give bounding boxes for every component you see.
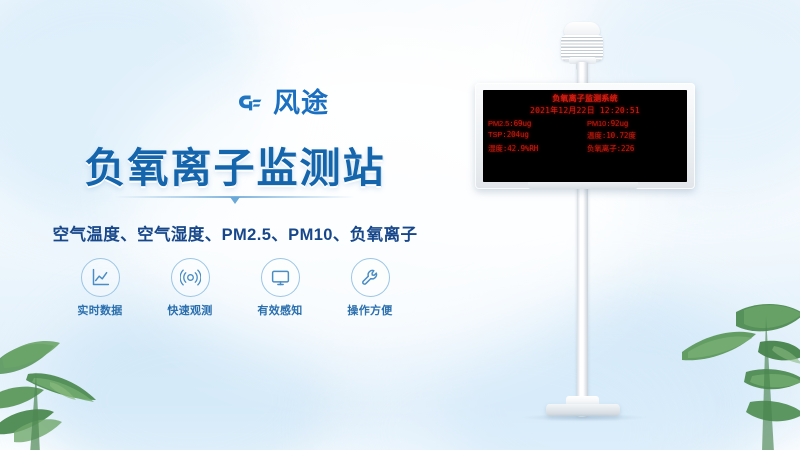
reading-humidity: 湿度:42.9%RH [488, 143, 583, 154]
reading-negative-oxygen-ion: 负氧离子:226 [587, 143, 682, 154]
feature-item-realtime-data: 实时数据 [68, 258, 132, 318]
reading-label: TSP [488, 130, 502, 139]
feature-label: 实时数据 [77, 302, 122, 318]
reading-label: PM10 [587, 119, 606, 128]
reading-label: 负氧离子 [587, 144, 617, 153]
sensor-dome [564, 22, 600, 36]
led-display-screen: 负氧离子监测系统 2021年12月22日 12:20:51 PM2.5:69ug… [483, 90, 687, 182]
page-subtitle: 空气温度、空气湿度、PM2.5、PM10、负氧离子 [0, 221, 470, 245]
headline-panel: 风途 负氧离子监测站 空气温度、空气湿度、PM2.5、PM10、负氧离子 实时数… [0, 0, 470, 450]
monitoring-station-device: 负氧离子监测系统 2021年12月22日 12:20:51 PM2.5:69ug… [430, 0, 800, 450]
feature-item-fast-observation: 快速观测 [158, 258, 222, 318]
reading-pm10: PM10:92ug [587, 119, 682, 128]
title-divider [115, 196, 355, 198]
reading-value: 42.9 [507, 144, 525, 153]
reading-label: 湿度 [488, 144, 503, 153]
brand-logo: 风途 [236, 88, 329, 118]
wrench-icon [351, 258, 390, 297]
feature-item-easy-operation: 操作方便 [338, 258, 402, 318]
monitor-icon [261, 258, 300, 297]
reading-pm25: PM2.5:69ug [488, 119, 583, 128]
line-chart-icon [81, 258, 120, 297]
fengtu-cloud-g-icon [236, 88, 266, 118]
radar-scan-icon [171, 258, 210, 297]
reading-unit: %RH [525, 144, 538, 153]
reading-value: 204 [507, 130, 520, 139]
reading-value: 10.72 [606, 131, 628, 140]
display-readings: PM2.5:69ug PM10:92ug TSP:204ug 温度:10.72度… [483, 119, 687, 154]
display-datetime: 2021年12月22日 12:20:51 [483, 105, 687, 116]
reading-tsp: TSP:204ug [488, 130, 583, 141]
feature-label: 有效感知 [257, 302, 302, 318]
reading-value: 226 [621, 144, 634, 153]
product-banner: 风途 负氧离子监测站 空气温度、空气湿度、PM2.5、PM10、负氧离子 实时数… [0, 0, 800, 450]
reading-temperature: 温度:10.72度 [587, 130, 682, 141]
feature-label: 操作方便 [347, 302, 392, 318]
brand-name: 风途 [273, 90, 329, 117]
reading-unit: ug [619, 119, 628, 128]
page-title: 负氧离子监测站 [0, 134, 470, 194]
reading-unit: 度 [628, 131, 635, 140]
screen-mount-bracket [528, 182, 638, 189]
led-display-frame: 负氧离子监测系统 2021年12月22日 12:20:51 PM2.5:69ug… [475, 83, 695, 189]
ground-shadow [496, 412, 672, 423]
feature-label: 快速观测 [167, 302, 212, 318]
reading-unit: ug [520, 130, 529, 139]
display-heading: 负氧离子监测系统 [483, 93, 687, 104]
reading-label: 温度 [587, 131, 602, 140]
feature-list: 实时数据 快速观测 [0, 258, 470, 318]
reading-unit: ug [522, 119, 531, 128]
feature-item-effective-sensing: 有效感知 [248, 258, 312, 318]
reading-label: PM2.5 [488, 119, 509, 128]
